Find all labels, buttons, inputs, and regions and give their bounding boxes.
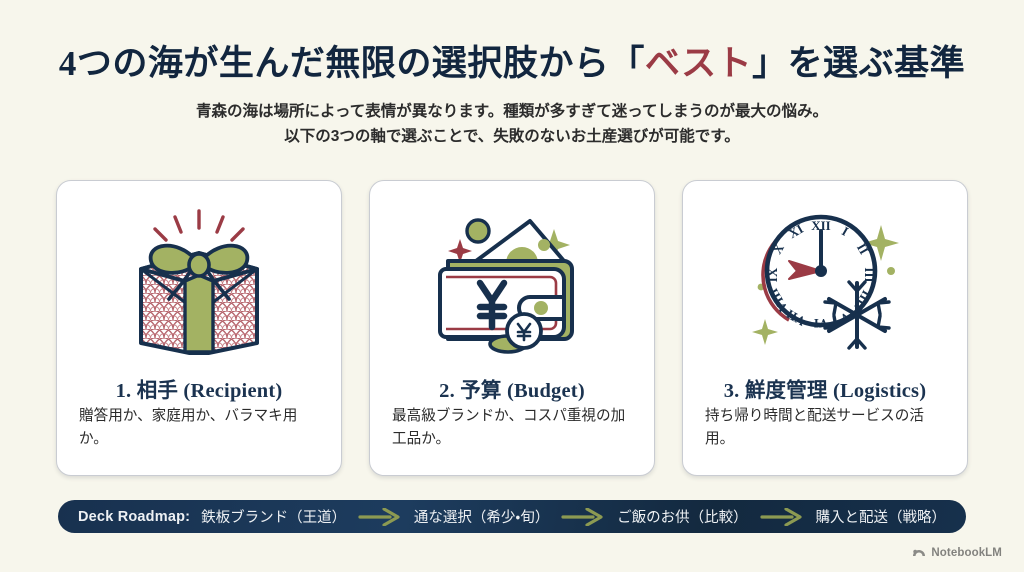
footer-label: NotebookLM [931, 547, 1002, 559]
criteria-card-recipient[interactable]: 1. 相手 (Recipient) 贈答用か、家庭用か、バラマキ用か。 [56, 180, 342, 476]
card-title: 1. 相手 (Recipient) [57, 373, 341, 403]
title-accent: ベスト [645, 44, 752, 83]
arrow-right-icon [357, 507, 403, 527]
card-description: 贈答用か、家庭用か、バラマキ用か。 [79, 405, 323, 451]
card-description: 持ち帰り時間と配送サービスの活用。 [705, 405, 949, 451]
criteria-card-list: 1. 相手 (Recipient) 贈答用か、家庭用か、バラマキ用か。 [56, 180, 968, 476]
roadmap-lead-label: Deck Roadmap: [78, 509, 190, 525]
roadmap-step-3[interactable]: ご飯のお供（比較） [617, 506, 748, 527]
gift-box-icon [57, 195, 341, 363]
roadmap-step-4[interactable]: 購入と配送（戦略） [815, 506, 946, 527]
arrow-right-icon [560, 507, 606, 527]
roadmap-step-2[interactable]: 通な選択（希少・旬） [414, 506, 549, 527]
footer-branding: NotebookLM [912, 544, 1002, 562]
card-title: 3. 鮮度管理 (Logistics) [683, 373, 967, 403]
header: 4つの海が生んだ無限の選択肢から「ベスト」を選ぶ基準 青森の海は場所によって表情… [0, 44, 1024, 149]
svg-text:III: III [862, 267, 877, 282]
arrow-right-icon [759, 507, 805, 527]
clock-snowflake-icon: XII I II III IIII V VI VII VIII IX X XI [683, 195, 967, 363]
title-bracket-open: 「 [609, 44, 645, 83]
subtitle-line-2: 以下の3つの軸で選ぶことで、失敗のないお土産選びが可能です。 [0, 124, 1024, 149]
card-title: 2. 予算 (Budget) [370, 373, 654, 403]
criteria-card-logistics[interactable]: XII I II III IIII V VI VII VIII IX X XI [682, 180, 968, 476]
roadmap-step-1[interactable]: 鉄板ブランド（王道） [201, 506, 346, 527]
title-bracket-close: 」 [752, 44, 788, 83]
wallet-yen-icon [370, 195, 654, 363]
deck-roadmap-bar: Deck Roadmap: 鉄板ブランド（王道） 通な選択（希少・旬） ご飯のお… [58, 500, 966, 533]
criteria-card-budget[interactable]: 2. 予算 (Budget) 最高級ブランドか、コスパ重視の加工品か。 [369, 180, 655, 476]
card-description: 最高級ブランドか、コスパ重視の加工品か。 [392, 405, 636, 451]
page-title: 4つの海が生んだ無限の選択肢から「ベスト」を選ぶ基準 [0, 44, 1024, 85]
slide-root: 4つの海が生んだ無限の選択肢から「ベスト」を選ぶ基準 青森の海は場所によって表情… [0, 0, 1024, 572]
title-part1: 4つの海が生んだ無限の選択肢から [59, 44, 610, 83]
subtitle-line-1: 青森の海は場所によって表情が異なります。種類が多すぎて迷ってしまうのが最大の悩み… [0, 99, 1024, 124]
page-subtitle: 青森の海は場所によって表情が異なります。種類が多すぎて迷ってしまうのが最大の悩み… [0, 99, 1024, 149]
title-part2: を選ぶ基準 [788, 44, 966, 83]
svg-text:IX: IX [765, 267, 780, 282]
notebooklm-logo-icon [912, 544, 926, 562]
